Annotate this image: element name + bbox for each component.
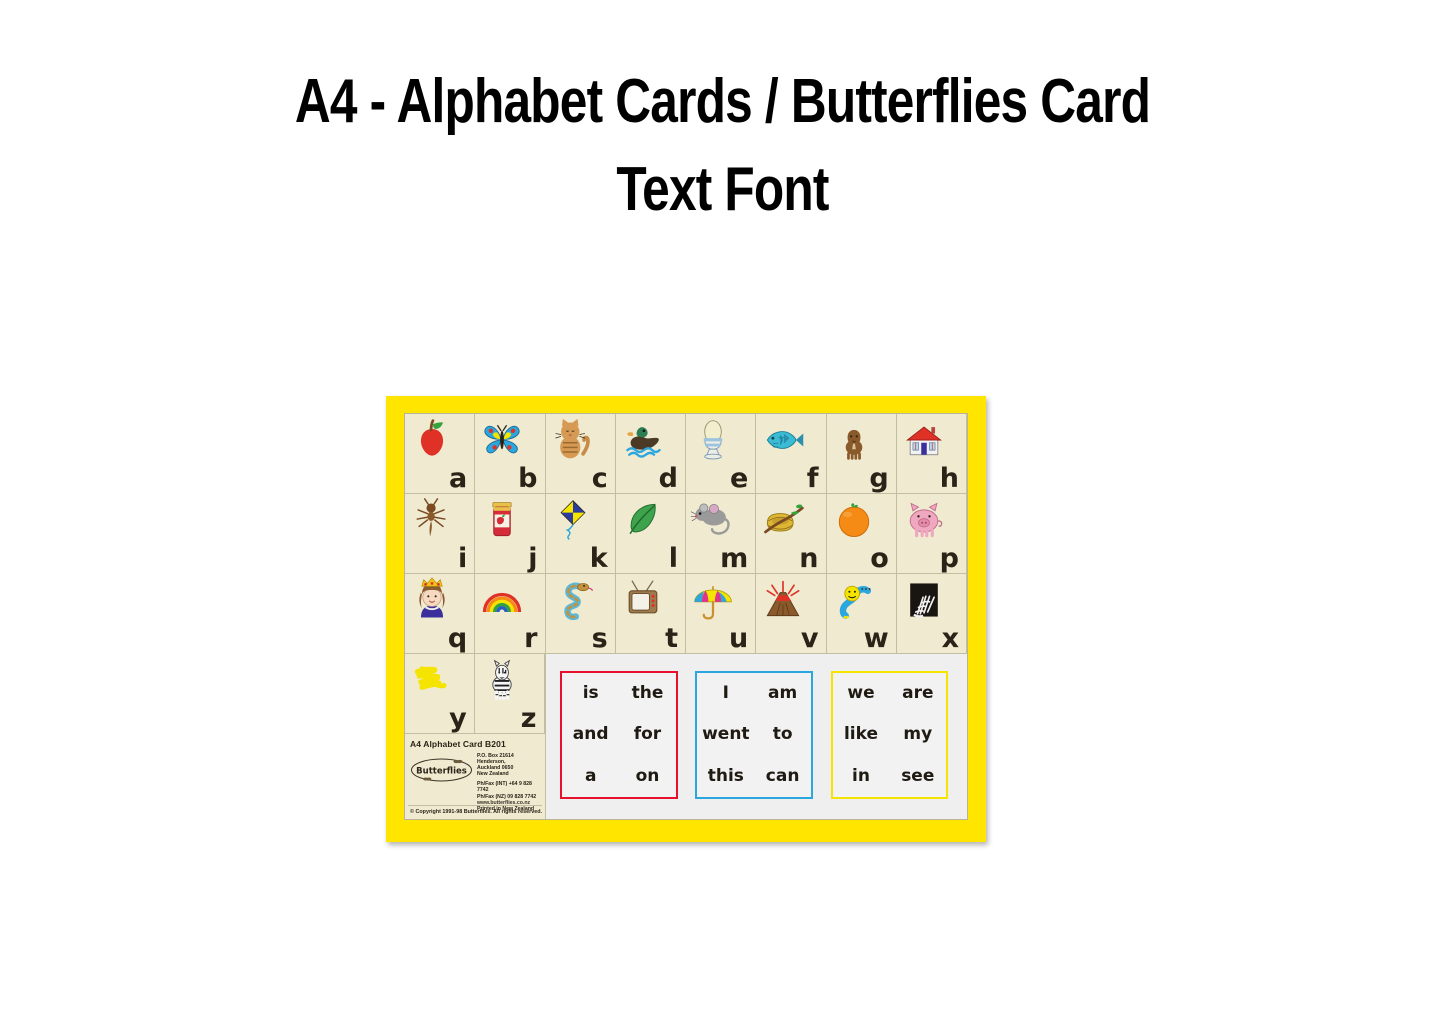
alphabet-letter: g — [869, 464, 888, 494]
card-bottom-row: yz A4 Alphabet Card B201 Butterflies — [405, 654, 967, 819]
alphabet-cell-k: k — [546, 494, 616, 574]
kite-icon — [550, 497, 596, 543]
house-icon — [901, 417, 947, 463]
sight-word: for — [634, 724, 661, 744]
alphabet-letter: a — [449, 464, 467, 494]
alphabet-card-inner: abcdefghijklmnopqrstuvwx yz A4 Alphabet … — [404, 413, 968, 820]
yellow-word-box: wearelikemyinsee — [831, 671, 949, 799]
alphabet-grid-last-row: yz — [405, 654, 545, 734]
alphabet-letter: o — [870, 544, 889, 574]
sight-word: like — [844, 724, 878, 744]
alphabet-cell-w: w — [827, 574, 897, 654]
sight-word: are — [902, 683, 933, 703]
alphabet-cell-f: f — [756, 414, 826, 494]
alphabet-letter: j — [528, 544, 537, 574]
alphabet-cell-a: a — [405, 414, 475, 494]
alphabet-cell-i: i — [405, 494, 475, 574]
nest-icon — [760, 497, 806, 543]
alphabet-cell-d: d — [616, 414, 686, 494]
alphabet-grid: abcdefghijklmnopqrstuvwx — [405, 414, 967, 654]
alphabet-letter: c — [592, 464, 608, 494]
butterflies-logo: Butterflies — [410, 757, 473, 783]
sight-word: to — [773, 724, 793, 744]
alphabet-cell-c: c — [546, 414, 616, 494]
alphabet-cell-j: j — [475, 494, 545, 574]
sight-word: the — [632, 683, 664, 703]
alphabet-letter: m — [720, 544, 748, 574]
alphabet-letter: v — [801, 624, 819, 654]
alphabet-letter: i — [458, 544, 467, 574]
contact-line: Ph/Fax (INT) +64 9 828 7742 — [477, 781, 542, 793]
page-title-line-1: A4 - Alphabet Cards / Butterflies Card — [145, 58, 1301, 146]
alphabet-cell-s: s — [546, 574, 616, 654]
alphabet-letter: x — [942, 624, 959, 654]
alphabet-letter: y — [449, 704, 467, 734]
copyright-notice: © Copyright 1991-98 Butterflies. All rig… — [410, 809, 542, 815]
volcano-icon — [760, 577, 806, 623]
worm-icon — [831, 577, 877, 623]
svg-text:Butterflies: Butterflies — [416, 767, 467, 777]
alphabet-letter: u — [729, 624, 748, 654]
insect-icon — [409, 497, 455, 543]
orange-icon — [831, 497, 877, 543]
mouse-icon — [690, 497, 736, 543]
butterfly-icon — [479, 417, 525, 463]
television-icon — [620, 577, 666, 623]
alphabet-cell-b: b — [475, 414, 545, 494]
alphabet-cell-q: q — [405, 574, 475, 654]
cat-icon — [550, 417, 596, 463]
sight-word: my — [903, 724, 932, 744]
goat-icon — [831, 417, 877, 463]
divider — [408, 805, 542, 806]
alphabet-letter: k — [590, 544, 608, 574]
sight-word: we — [847, 683, 874, 703]
duck-icon — [620, 417, 666, 463]
alphabet-cell-x: x — [897, 574, 967, 654]
leaf-icon — [620, 497, 666, 543]
sight-word: can — [766, 766, 800, 786]
publisher-info: A4 Alphabet Card B201 Butterflies — [405, 734, 545, 819]
alphabet-letter: p — [940, 544, 959, 574]
alphabet-letter: b — [518, 464, 537, 494]
word-boxes-area: istheandforaonIamwenttothiscanwearelikem… — [546, 654, 968, 819]
alphabet-letter: l — [669, 544, 678, 574]
yellow-scribble-icon — [409, 657, 455, 703]
alphabet-cell-v: v — [756, 574, 826, 654]
sight-word: is — [583, 683, 599, 703]
alphabet-cell-z: z — [475, 654, 545, 734]
sight-word: a — [585, 766, 596, 786]
alphabet-cell-o: o — [827, 494, 897, 574]
alphabet-letter: z — [521, 704, 537, 734]
alphabet-cell-u: u — [686, 574, 756, 654]
alphabet-cell-y: y — [405, 654, 475, 734]
page-title: A4 - Alphabet Cards / Butterflies Card T… — [0, 58, 1445, 234]
alphabet-letter: q — [448, 624, 467, 654]
alphabet-letter: n — [799, 544, 818, 574]
alphabet-letter: d — [659, 464, 678, 494]
alphabet-letter: t — [665, 624, 678, 654]
pig-icon — [901, 497, 947, 543]
alphabet-letter: h — [940, 464, 959, 494]
sight-word: I — [723, 683, 729, 703]
snake-icon — [550, 577, 596, 623]
alphabet-cell-r: r — [475, 574, 545, 654]
sight-word: am — [768, 683, 797, 703]
address-block: P.O. Box 21614 Henderson, Auckland 0650 … — [477, 752, 542, 812]
alphabet-cell-g: g — [827, 414, 897, 494]
red-word-box: istheandforaon — [560, 671, 678, 799]
alphabet-letter: f — [807, 464, 819, 494]
contact-line: Ph/Fax (NZ) 09 828 7742 — [477, 794, 542, 800]
alphabet-cell-n: n — [756, 494, 826, 574]
alphabet-cell-e: e — [686, 414, 756, 494]
apple-icon — [409, 417, 455, 463]
umbrella-icon — [690, 577, 736, 623]
logo-and-address: Butterflies — [410, 752, 542, 812]
xray-icon — [901, 577, 947, 623]
sight-word: see — [901, 766, 934, 786]
alphabet-card: abcdefghijklmnopqrstuvwx yz A4 Alphabet … — [386, 396, 986, 842]
alphabet-cell-m: m — [686, 494, 756, 574]
yz-and-info-column: yz A4 Alphabet Card B201 Butterflies — [405, 654, 546, 819]
alphabet-cell-l: l — [616, 494, 686, 574]
sight-word: this — [708, 766, 744, 786]
sight-word: and — [573, 724, 609, 744]
alphabet-cell-h: h — [897, 414, 967, 494]
blue-word-box: Iamwenttothiscan — [695, 671, 813, 799]
zebra-icon — [479, 657, 525, 703]
sight-word: went — [702, 724, 749, 744]
jam-jar-icon — [479, 497, 525, 543]
alphabet-letter: w — [864, 624, 889, 654]
egg-icon — [690, 417, 736, 463]
alphabet-letter: e — [730, 464, 748, 494]
page-title-line-2: Text Font — [145, 146, 1301, 234]
rainbow-icon — [479, 577, 525, 623]
alphabet-card-image: abcdefghijklmnopqrstuvwx yz A4 Alphabet … — [386, 396, 986, 842]
alphabet-cell-t: t — [616, 574, 686, 654]
sight-word: in — [852, 766, 870, 786]
alphabet-letter: r — [524, 624, 537, 654]
queen-icon — [409, 577, 455, 623]
alphabet-letter: s — [592, 624, 608, 654]
alphabet-cell-p: p — [897, 494, 967, 574]
sight-word: on — [636, 766, 660, 786]
fish-icon — [760, 417, 806, 463]
product-code: A4 Alphabet Card B201 — [410, 739, 542, 749]
